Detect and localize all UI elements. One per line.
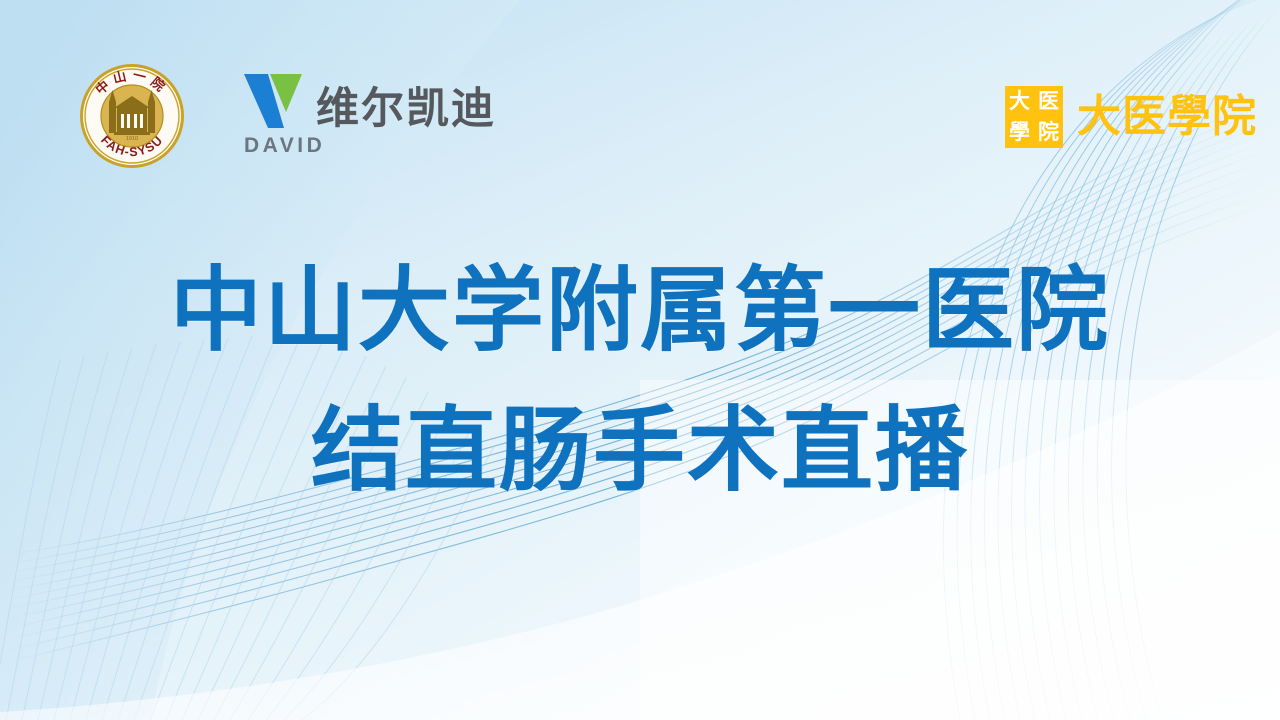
- dayi-seal-char-4: 院: [1038, 122, 1059, 143]
- dayi-seal-char-2: 医: [1038, 91, 1059, 112]
- dayi-seal-char-3: 學: [1009, 122, 1030, 143]
- v-mark-icon: [242, 72, 304, 130]
- dayi-seal-char-1: 大: [1009, 91, 1030, 112]
- dayi-seal-icon: 大 医 學 院: [1005, 86, 1063, 148]
- hospital-seal-logo: 1910 中山一院 FAH-SYSU: [78, 62, 186, 170]
- dayi-academy-logo: 大 医 學 院 大医學院: [1005, 86, 1257, 148]
- title-line-1: 中山大学附属第一医院: [0, 252, 1280, 370]
- page-title: 中山大学附属第一医院 结直肠手术直播: [0, 252, 1280, 510]
- david-v-mark: DAVID: [242, 72, 304, 160]
- dayi-wordmark: 大医學院: [1077, 95, 1257, 139]
- fah-sysu-seal-icon: 1910 中山一院 FAH-SYSU: [78, 62, 186, 170]
- david-wordmark: DAVID: [244, 134, 325, 158]
- david-logo: DAVID 维尔凯迪: [242, 72, 496, 160]
- svg-text:1910: 1910: [126, 136, 138, 142]
- david-chinese-name: 维尔凯迪: [316, 88, 496, 131]
- title-card: 1910 中山一院 FAH-SYSU DAVID: [0, 0, 1280, 720]
- title-line-2: 结直肠手术直播: [0, 392, 1280, 510]
